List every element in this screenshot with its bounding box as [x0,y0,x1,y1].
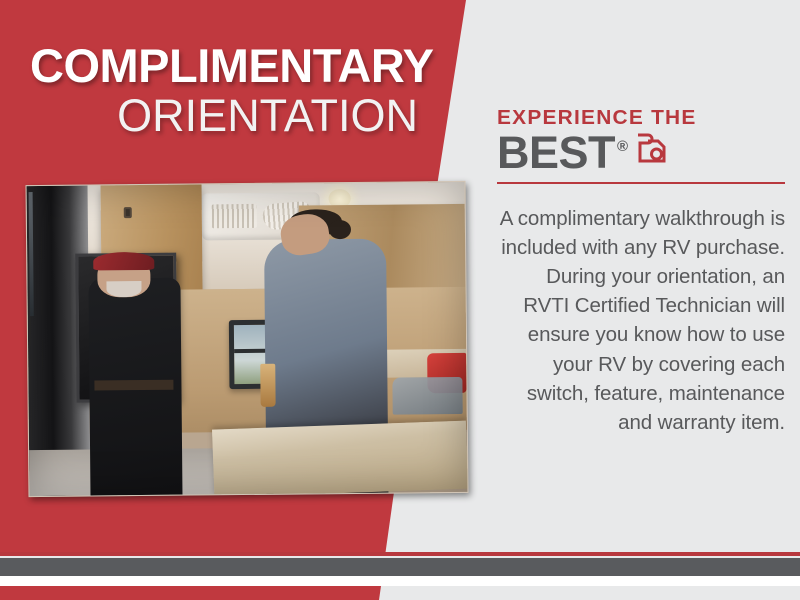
orientation-photo [26,181,469,497]
logo-tagline: EXPERIENCE THE [497,108,791,129]
photo-vignette [27,182,468,496]
logo-wordmark-row: BEST ® [497,131,785,174]
registered-trademark-icon: ® [617,139,628,154]
body-paragraph: A complimentary walkthrough is included … [497,204,785,437]
rv-motorhome-icon [634,131,668,170]
bottom-gray-band [0,558,800,576]
logo-divider [497,182,785,184]
photo-scene [27,182,468,496]
page-title: COMPLIMENTARY ORIENTATION [0,0,440,186]
logo-wordmark: BEST [497,132,615,173]
bottom-white-gap [0,576,800,586]
slide-canvas: COMPLIMENTARY ORIENTATION [0,0,800,600]
right-column: EXPERIENCE THE BEST ® A compl [497,108,785,457]
next-slide-red-panel [0,586,400,600]
next-slide-preview[interactable] [0,586,800,600]
experience-the-best-logo: EXPERIENCE THE BEST ® [497,108,785,186]
headline-line-2: ORIENTATION [30,92,418,139]
headline-line-1: COMPLIMENTARY [30,42,418,90]
slide-content: COMPLIMENTARY ORIENTATION [0,0,800,556]
bottom-red-rule [0,552,800,556]
